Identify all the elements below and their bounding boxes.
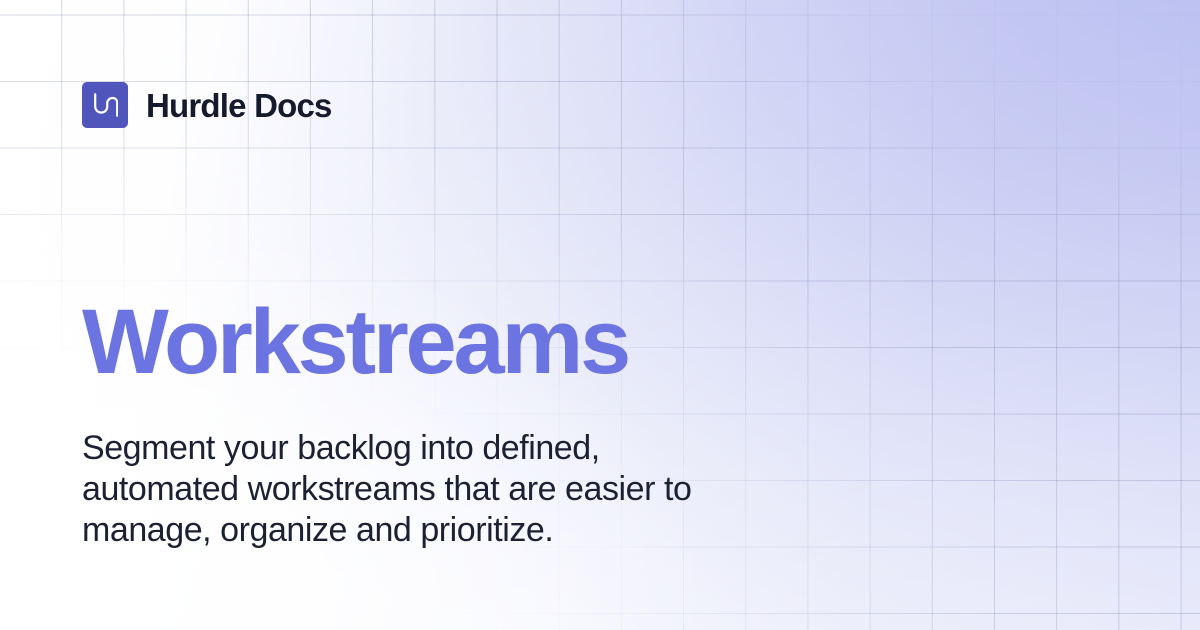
description-line: manage, organize and prioritize. xyxy=(82,510,842,551)
description-line: Segment your backlog into defined, xyxy=(82,428,842,469)
brand-name: Hurdle Docs xyxy=(146,89,332,122)
card-content: Hurdle Docs Workstreams Segment your bac… xyxy=(0,0,1200,630)
page-title: Workstreams xyxy=(82,296,628,388)
page-description: Segment your backlog into defined, autom… xyxy=(82,428,842,551)
og-card: Hurdle Docs Workstreams Segment your bac… xyxy=(0,0,1200,630)
description-line: automated workstreams that are easier to xyxy=(82,469,842,510)
brand-lockup[interactable]: Hurdle Docs xyxy=(82,82,332,128)
hurdle-monogram-icon xyxy=(82,82,128,128)
